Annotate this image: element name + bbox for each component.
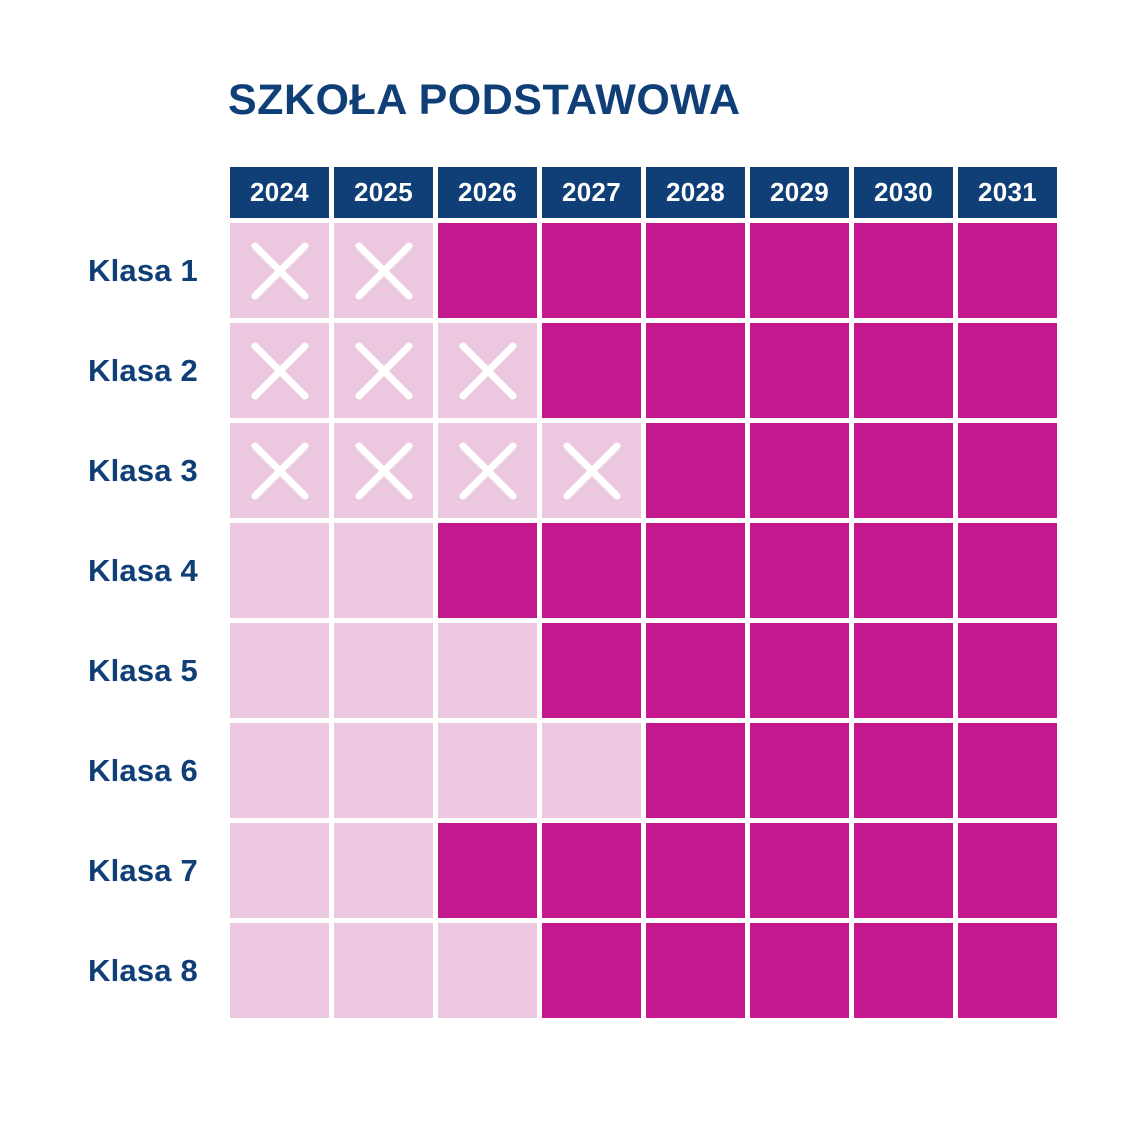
matrix-cell-klasa3-2030[interactable] xyxy=(854,423,953,518)
cross-icon xyxy=(459,442,517,500)
matrix-cell-klasa7-2025[interactable] xyxy=(334,823,433,918)
matrix-cell-klasa7-2031[interactable] xyxy=(958,823,1057,918)
matrix-cell-klasa1-2025[interactable] xyxy=(334,223,433,318)
matrix-cell-klasa4-2025[interactable] xyxy=(334,523,433,618)
cross-icon xyxy=(251,342,309,400)
matrix-cell-klasa6-2030[interactable] xyxy=(854,723,953,818)
matrix-cell-klasa8-2028[interactable] xyxy=(646,923,745,1018)
matrix-cell-klasa5-2026[interactable] xyxy=(438,623,537,718)
matrix-cell-klasa6-2025[interactable] xyxy=(334,723,433,818)
matrix-cell-klasa5-2028[interactable] xyxy=(646,623,745,718)
matrix-cell-klasa1-2028[interactable] xyxy=(646,223,745,318)
chart-root: SZKOŁA PODSTAWOWA Klasa 1Klasa 2Klasa 3K… xyxy=(0,0,1140,1129)
matrix-cell-klasa4-2026[interactable] xyxy=(438,523,537,618)
matrix-cell-klasa5-2027[interactable] xyxy=(542,623,641,718)
matrix-row xyxy=(230,423,1058,518)
matrix-cell-klasa7-2030[interactable] xyxy=(854,823,953,918)
matrix-row xyxy=(230,623,1058,718)
matrix-row xyxy=(230,823,1058,918)
matrix-cell-klasa2-2029[interactable] xyxy=(750,323,849,418)
matrix-cell-klasa8-2031[interactable] xyxy=(958,923,1057,1018)
row-label-column: Klasa 1Klasa 2Klasa 3Klasa 4Klasa 5Klasa… xyxy=(0,223,212,1023)
year-header-2029: 2029 xyxy=(750,167,849,218)
matrix-cell-klasa2-2031[interactable] xyxy=(958,323,1057,418)
matrix-cell-klasa1-2031[interactable] xyxy=(958,223,1057,318)
matrix-cell-klasa2-2026[interactable] xyxy=(438,323,537,418)
page-title: SZKOŁA PODSTAWOWA xyxy=(228,79,741,122)
matrix-cell-klasa2-2025[interactable] xyxy=(334,323,433,418)
row-label-klasa-2: Klasa 2 xyxy=(0,323,212,418)
matrix-cell-klasa7-2026[interactable] xyxy=(438,823,537,918)
row-label-klasa-7: Klasa 7 xyxy=(0,823,212,918)
cross-icon xyxy=(459,342,517,400)
year-header-2031: 2031 xyxy=(958,167,1057,218)
matrix-cell-klasa1-2029[interactable] xyxy=(750,223,849,318)
row-label-klasa-4: Klasa 4 xyxy=(0,523,212,618)
year-header-2026: 2026 xyxy=(438,167,537,218)
matrix-cell-klasa4-2028[interactable] xyxy=(646,523,745,618)
row-label-klasa-5: Klasa 5 xyxy=(0,623,212,718)
matrix-cell-klasa8-2026[interactable] xyxy=(438,923,537,1018)
cross-icon xyxy=(355,242,413,300)
year-header-2024: 2024 xyxy=(230,167,329,218)
cross-icon xyxy=(251,442,309,500)
matrix-cell-klasa2-2027[interactable] xyxy=(542,323,641,418)
matrix-cell-klasa1-2024[interactable] xyxy=(230,223,329,318)
matrix-cell-klasa4-2031[interactable] xyxy=(958,523,1057,618)
matrix-cell-klasa7-2027[interactable] xyxy=(542,823,641,918)
matrix-cell-klasa6-2027[interactable] xyxy=(542,723,641,818)
matrix-row xyxy=(230,323,1058,418)
year-header-2028: 2028 xyxy=(646,167,745,218)
matrix-header-row: 20242025202620272028202920302031 xyxy=(230,167,1058,218)
matrix-cell-klasa6-2024[interactable] xyxy=(230,723,329,818)
matrix-cell-klasa5-2024[interactable] xyxy=(230,623,329,718)
matrix-cell-klasa3-2026[interactable] xyxy=(438,423,537,518)
cross-icon xyxy=(251,242,309,300)
matrix-row xyxy=(230,523,1058,618)
matrix-cell-klasa8-2029[interactable] xyxy=(750,923,849,1018)
matrix-cell-klasa6-2026[interactable] xyxy=(438,723,537,818)
row-label-klasa-8: Klasa 8 xyxy=(0,923,212,1018)
matrix-cell-klasa8-2024[interactable] xyxy=(230,923,329,1018)
matrix-cell-klasa6-2031[interactable] xyxy=(958,723,1057,818)
year-header-2030: 2030 xyxy=(854,167,953,218)
matrix-cell-klasa2-2028[interactable] xyxy=(646,323,745,418)
matrix-cell-klasa8-2025[interactable] xyxy=(334,923,433,1018)
matrix-cell-klasa8-2027[interactable] xyxy=(542,923,641,1018)
matrix-cell-klasa1-2027[interactable] xyxy=(542,223,641,318)
matrix-cell-klasa5-2025[interactable] xyxy=(334,623,433,718)
matrix-cell-klasa2-2024[interactable] xyxy=(230,323,329,418)
matrix-cell-klasa2-2030[interactable] xyxy=(854,323,953,418)
matrix-cell-klasa3-2029[interactable] xyxy=(750,423,849,518)
matrix-cell-klasa5-2029[interactable] xyxy=(750,623,849,718)
matrix-cell-klasa4-2029[interactable] xyxy=(750,523,849,618)
cross-icon xyxy=(355,442,413,500)
matrix-row xyxy=(230,223,1058,318)
year-header-2025: 2025 xyxy=(334,167,433,218)
matrix-cell-klasa6-2028[interactable] xyxy=(646,723,745,818)
matrix-cell-klasa3-2024[interactable] xyxy=(230,423,329,518)
row-label-klasa-1: Klasa 1 xyxy=(0,223,212,318)
year-header-2027: 2027 xyxy=(542,167,641,218)
matrix-cell-klasa7-2029[interactable] xyxy=(750,823,849,918)
matrix-cell-klasa3-2027[interactable] xyxy=(542,423,641,518)
matrix-cell-klasa7-2028[interactable] xyxy=(646,823,745,918)
matrix-cell-klasa6-2029[interactable] xyxy=(750,723,849,818)
matrix-cell-klasa4-2027[interactable] xyxy=(542,523,641,618)
matrix-cell-klasa3-2025[interactable] xyxy=(334,423,433,518)
row-label-klasa-6: Klasa 6 xyxy=(0,723,212,818)
matrix-cell-klasa3-2028[interactable] xyxy=(646,423,745,518)
matrix-cell-klasa7-2024[interactable] xyxy=(230,823,329,918)
matrix-row xyxy=(230,923,1058,1018)
matrix-cell-klasa1-2026[interactable] xyxy=(438,223,537,318)
matrix-cell-klasa5-2031[interactable] xyxy=(958,623,1057,718)
matrix-cell-klasa3-2031[interactable] xyxy=(958,423,1057,518)
matrix-body xyxy=(230,223,1058,1018)
matrix-cell-klasa4-2030[interactable] xyxy=(854,523,953,618)
cross-icon xyxy=(563,442,621,500)
matrix-cell-klasa5-2030[interactable] xyxy=(854,623,953,718)
cross-icon xyxy=(355,342,413,400)
matrix-row xyxy=(230,723,1058,818)
matrix-cell-klasa8-2030[interactable] xyxy=(854,923,953,1018)
row-label-klasa-3: Klasa 3 xyxy=(0,423,212,518)
matrix-cell-klasa1-2030[interactable] xyxy=(854,223,953,318)
matrix-cell-klasa4-2024[interactable] xyxy=(230,523,329,618)
year-class-matrix: 20242025202620272028202920302031 xyxy=(230,167,1058,1018)
